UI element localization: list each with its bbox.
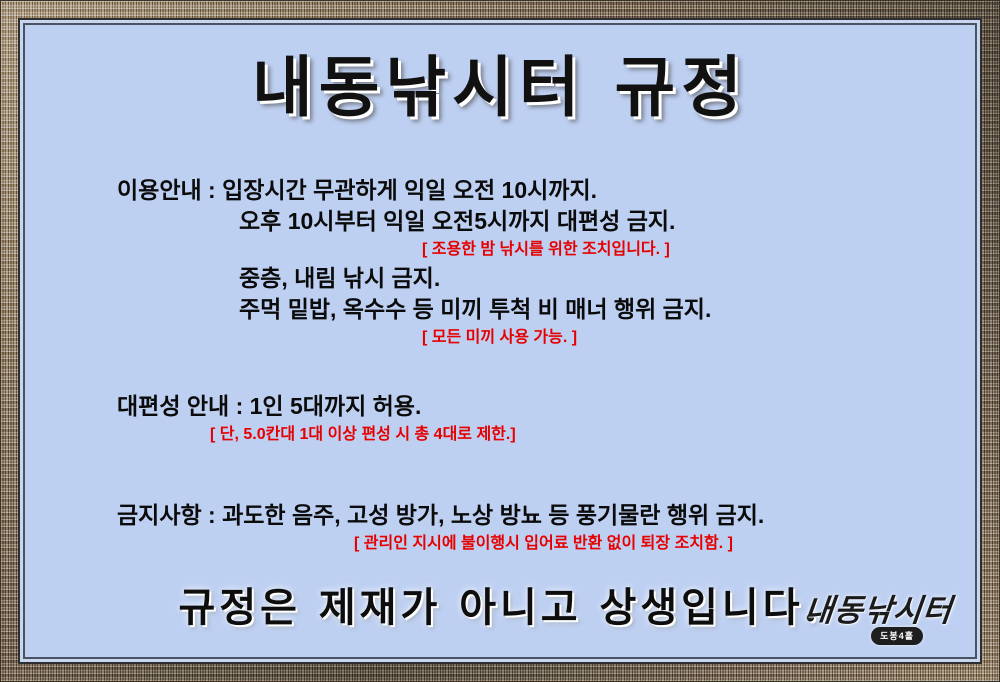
brand-badge: 도봉4홀 bbox=[871, 627, 923, 645]
frame-bevel-inner: 내동낚시터 규정 이용안내 : 입장시간 무관하게 익일 오전 10시까지. 오… bbox=[23, 23, 977, 659]
section-prohibitions-heading: 금지사항 : 과도한 음주, 고성 방가, 노상 방뇨 등 풍기물란 행위 금지… bbox=[27, 500, 973, 531]
poster-title: 내동낚시터 규정 bbox=[27, 53, 973, 122]
frame-bevel-outer: 내동낚시터 규정 이용안내 : 입장시간 무관하게 익일 오전 10시까지. 오… bbox=[18, 18, 982, 664]
section-multirod-note: [ 단, 5.0칸대 1대 이상 편성 시 총 4대로 제한.] bbox=[27, 422, 973, 448]
spacer-1 bbox=[27, 351, 973, 391]
section-usage-heading: 이용안내 : 입장시간 무관하게 익일 오전 10시까지. bbox=[27, 175, 973, 206]
section-usage-rules-note: [ 모든 미끼 사용 가능. ] bbox=[27, 325, 973, 351]
fishing-ground-rules-poster: 내동낚시터 규정 이용안내 : 입장시간 무관하게 익일 오전 10시까지. 오… bbox=[0, 0, 1000, 682]
section-multirod-heading: 대편성 안내 : 1인 5대까지 허용. bbox=[27, 391, 973, 422]
section-usage-subline: 오후 10시부터 익일 오전5시까지 대편성 금지. bbox=[27, 206, 973, 237]
section-usage-note: [ 조용한 밤 낚시를 위한 조치입니다. ] bbox=[27, 237, 973, 263]
rules-body: 이용안내 : 입장시간 무관하게 익일 오전 10시까지. 오후 10시부터 익… bbox=[27, 175, 973, 557]
section-usage-rule-1: 중층, 내림 낚시 금지. bbox=[27, 263, 973, 294]
section-prohibitions-note: [ 관리인 지시에 불이행시 입어료 반환 없이 퇴장 조치함. ] bbox=[27, 531, 973, 557]
section-usage-rule-2: 주먹 밑밥, 옥수수 등 미끼 투척 비 매너 행위 금지. bbox=[27, 294, 973, 325]
brand-logo: 내동낚시터 도봉4홀 bbox=[761, 585, 957, 647]
brand-wordmark: 내동낚시터 bbox=[803, 585, 955, 630]
spacer-2 bbox=[27, 448, 973, 500]
poster-canvas: 내동낚시터 규정 이용안내 : 입장시간 무관하게 익일 오전 10시까지. 오… bbox=[27, 27, 973, 655]
